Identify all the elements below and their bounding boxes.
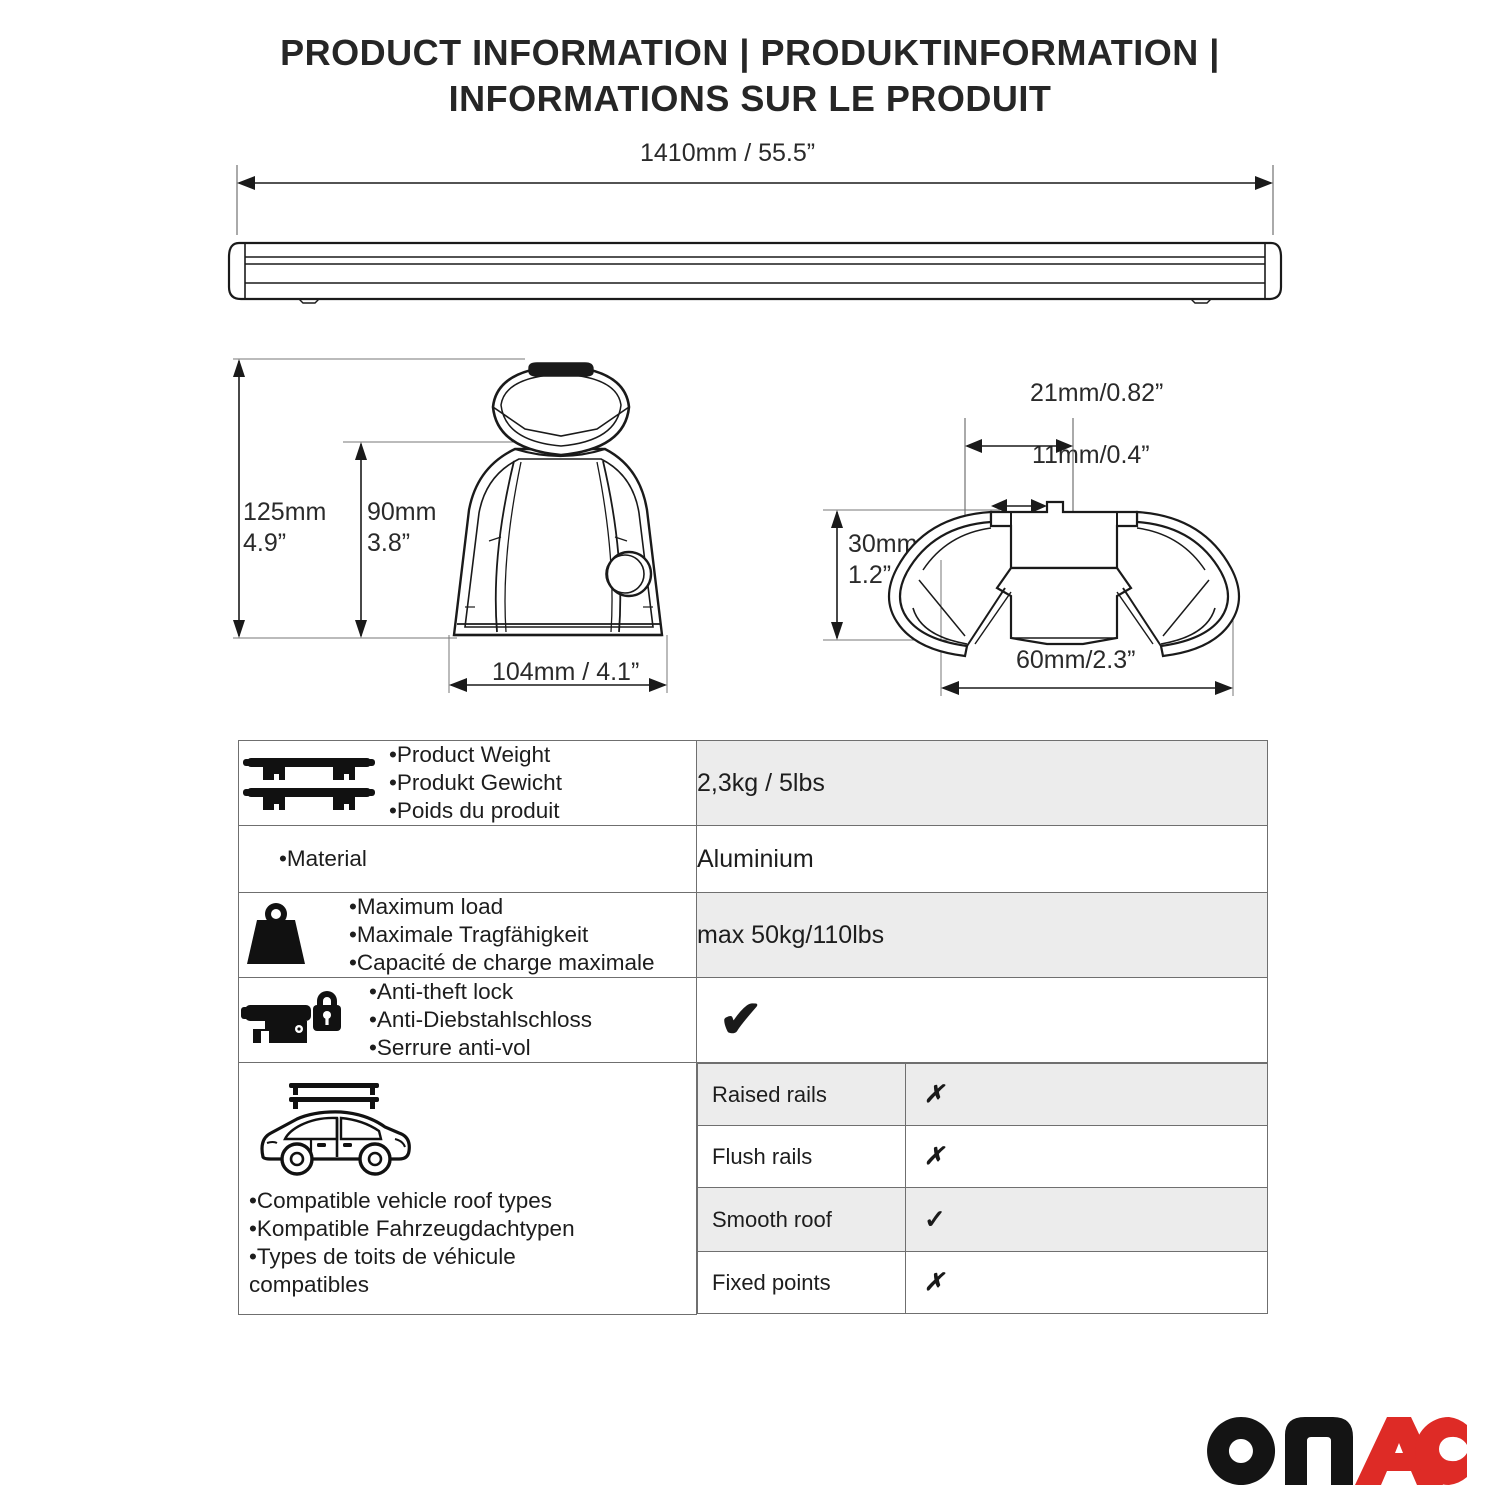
roof-type-mark: ✗ xyxy=(906,1064,1268,1126)
specification-table: •Product Weight •Produkt Gewicht •Poids … xyxy=(238,740,1268,1315)
max-load-label-cell: •Maximum load •Maximale Tragfähigkeit •C… xyxy=(239,893,697,978)
roof-types-table: Raised rails ✗ Flush rails ✗ Smooth roof… xyxy=(697,1063,1268,1314)
roof-type-mark: ✓ xyxy=(906,1188,1268,1252)
product-weight-label-cell: •Product Weight •Produkt Gewicht •Poids … xyxy=(239,741,697,826)
label-line: •Types de toits de véhicule xyxy=(249,1243,690,1271)
anti-theft-labels: •Anti-theft lock •Anti-Diebstahlschloss … xyxy=(369,978,592,1062)
label-line: •Maximum load xyxy=(349,893,655,921)
label-line: •Compatible vehicle roof types xyxy=(249,1187,690,1215)
roof-type-name: Smooth roof xyxy=(698,1188,906,1252)
anti-theft-value-cell: ✔ xyxy=(697,978,1268,1063)
material-value: Aluminium xyxy=(697,826,1268,893)
label-line: •Serrure anti-vol xyxy=(369,1034,592,1062)
car-with-roof-bars-icon xyxy=(249,1077,690,1183)
weight-icon xyxy=(239,894,349,976)
table-row: •Product Weight •Produkt Gewicht •Poids … xyxy=(239,741,1268,826)
title-line-1: PRODUCT INFORMATION | PRODUKTINFORMATION… xyxy=(0,30,1500,76)
max-load-value: max 50kg/110lbs xyxy=(697,893,1268,978)
roof-types-labels: •Compatible vehicle roof types •Kompatib… xyxy=(249,1187,690,1299)
anti-theft-label-cell: •Anti-theft lock •Anti-Diebstahlschloss … xyxy=(239,978,697,1063)
roof-types-matrix-cell: Raised rails ✗ Flush rails ✗ Smooth roof… xyxy=(697,1063,1268,1315)
roof-type-name: Fixed points xyxy=(698,1252,906,1314)
roof-rack-foot-front-view-drawing xyxy=(225,345,705,695)
label-line: compatibles xyxy=(249,1271,690,1299)
material-labels: •Material xyxy=(279,845,367,873)
crossbar-side-view-drawing xyxy=(225,165,1285,310)
roof-types-label-cell: •Compatible vehicle roof types •Kompatib… xyxy=(239,1063,697,1315)
table-row: •Anti-theft lock •Anti-Diebstahlschloss … xyxy=(239,978,1268,1063)
lock-icon xyxy=(239,981,369,1059)
roof-type-row: Flush rails ✗ xyxy=(698,1126,1268,1188)
roof-type-row: Raised rails ✗ xyxy=(698,1064,1268,1126)
roof-type-row: Fixed points ✗ xyxy=(698,1252,1268,1314)
product-information-page: PRODUCT INFORMATION | PRODUKTINFORMATION… xyxy=(0,0,1500,1500)
omac-logo xyxy=(1205,1415,1467,1487)
product-weight-labels: •Product Weight •Produkt Gewicht •Poids … xyxy=(389,741,562,825)
label-line: •Product Weight xyxy=(389,741,562,769)
table-row: •Compatible vehicle roof types •Kompatib… xyxy=(239,1063,1268,1315)
roof-type-name: Raised rails xyxy=(698,1064,906,1126)
roof-type-name: Flush rails xyxy=(698,1126,906,1188)
roof-type-mark: ✗ xyxy=(906,1252,1268,1314)
product-weight-value: 2,3kg / 5lbs xyxy=(697,741,1268,826)
table-row: •Maximum load •Maximale Tragfähigkeit •C… xyxy=(239,893,1268,978)
crossbars-icon xyxy=(239,748,389,818)
label-line: •Anti-theft lock xyxy=(369,978,592,1006)
label-line: •Poids du produit xyxy=(389,797,562,825)
roof-type-row: Smooth roof ✓ xyxy=(698,1188,1268,1252)
title-line-2: INFORMATIONS SUR LE PRODUIT xyxy=(0,76,1500,122)
check-icon: ✓ xyxy=(924,1204,946,1234)
roof-type-mark: ✗ xyxy=(906,1126,1268,1188)
max-load-labels: •Maximum load •Maximale Tragfähigkeit •C… xyxy=(349,893,655,977)
anti-theft-checkmark: ✔ xyxy=(697,994,1267,1046)
label-line: •Maximale Tragfähigkeit xyxy=(349,921,655,949)
label-line: •Material xyxy=(279,845,367,873)
page-title: PRODUCT INFORMATION | PRODUKTINFORMATION… xyxy=(0,30,1500,122)
label-line: •Anti-Diebstahlschloss xyxy=(369,1006,592,1034)
material-label-cell: •Material xyxy=(239,826,697,893)
table-row: •Material Aluminium xyxy=(239,826,1268,893)
label-line: •Produkt Gewicht xyxy=(389,769,562,797)
cross-icon: ✗ xyxy=(924,1143,944,1170)
crossbar-cross-section-drawing xyxy=(815,400,1285,700)
cross-icon: ✗ xyxy=(924,1081,944,1108)
cross-icon: ✗ xyxy=(924,1269,944,1296)
label-line: •Kompatible Fahrzeugdachtypen xyxy=(249,1215,690,1243)
label-line: •Capacité de charge maximale xyxy=(349,949,655,977)
